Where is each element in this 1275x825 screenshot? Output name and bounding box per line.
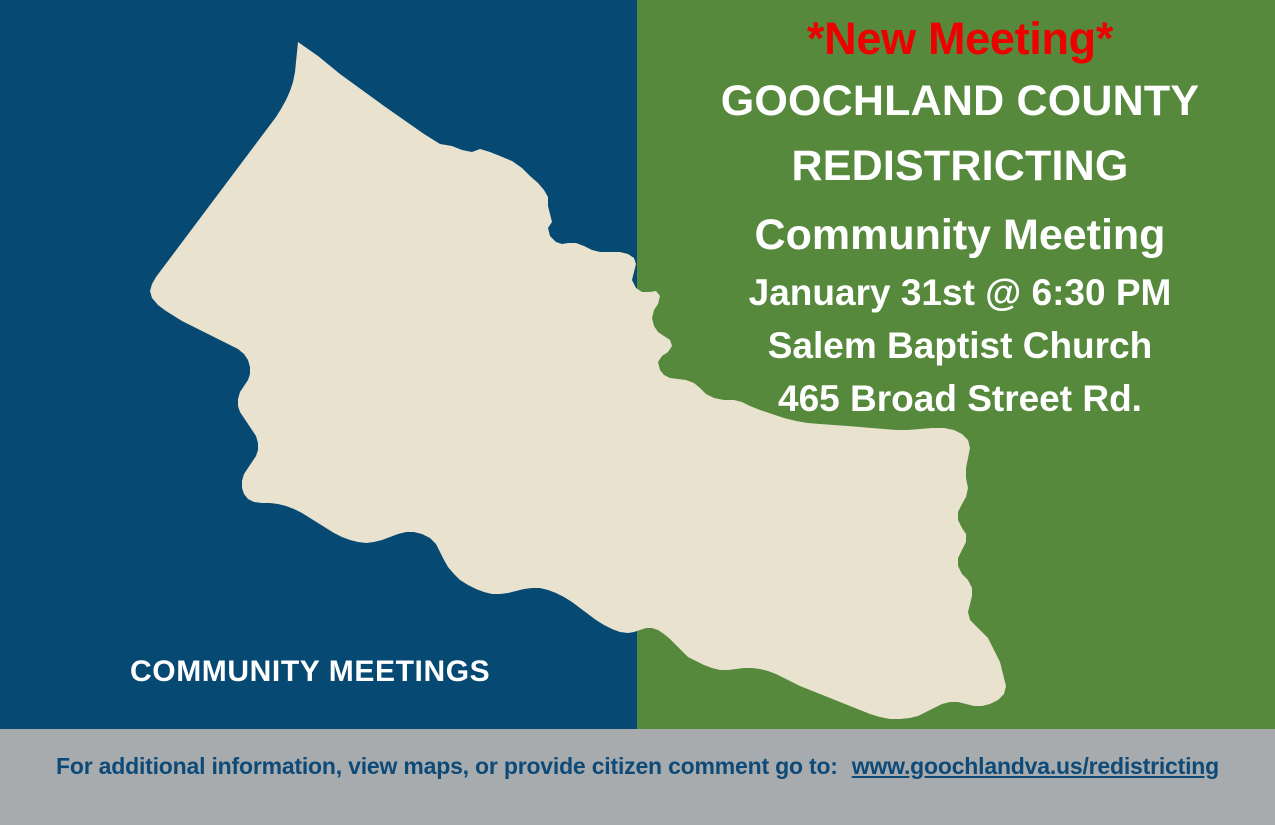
footer-banner: For additional information, view maps, o… (0, 753, 1275, 780)
meeting-address: 465 Broad Street Rd. (645, 372, 1275, 425)
poster-title-line-2: REDISTRICTING (645, 135, 1275, 198)
meeting-details-block: *New Meeting* GOOCHLAND COUNTY REDISTRIC… (645, 0, 1275, 425)
meeting-venue: Salem Baptist Church (645, 319, 1275, 372)
meeting-date-time: January 31st @ 6:30 PM (645, 266, 1275, 319)
poster-title-line-1: GOOCHLAND COUNTY (645, 70, 1275, 133)
redistricting-meeting-poster: COMMUNITY MEETINGS *New Meeting* GOOCHLA… (0, 0, 1275, 825)
new-meeting-banner: *New Meeting* (645, 8, 1275, 70)
poster-subtitle: Community Meeting (645, 204, 1275, 266)
redistricting-website-link[interactable]: www.goochlandva.us/redistricting (852, 753, 1219, 779)
blue-background-panel (0, 0, 637, 729)
community-meetings-label: COMMUNITY MEETINGS (130, 655, 490, 689)
footer-instruction-text: For additional information, view maps, o… (56, 753, 838, 779)
